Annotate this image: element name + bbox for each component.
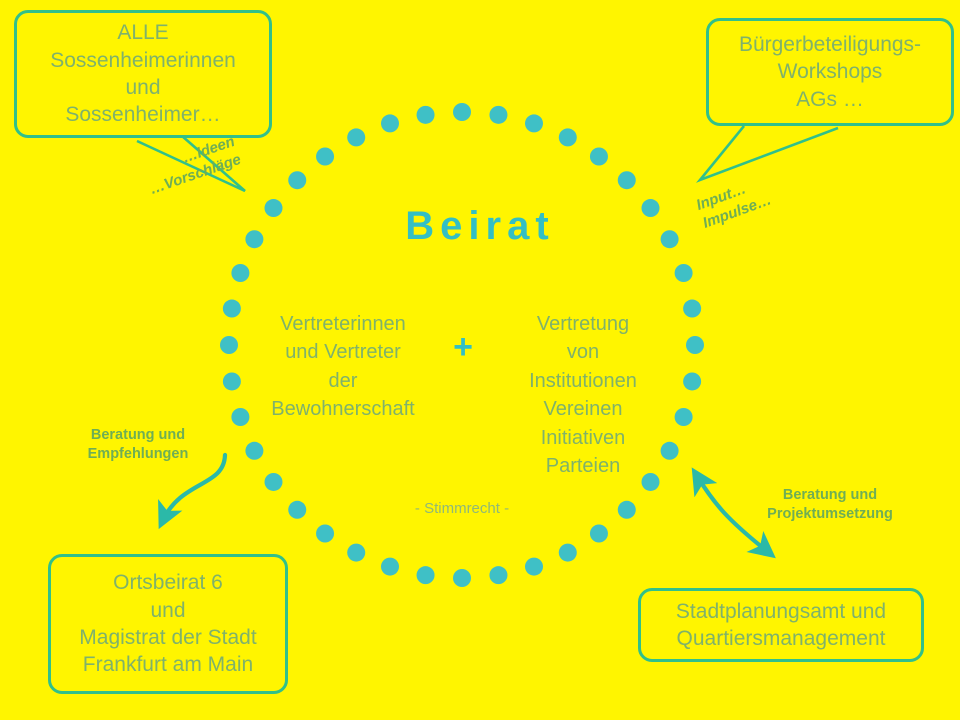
ring-dot (316, 525, 334, 543)
caption-beratung-empfehlungen: Beratung und Empfehlungen (62, 426, 214, 464)
ring-dot (559, 544, 577, 562)
ring-dot (686, 336, 704, 354)
ring-dot (347, 544, 365, 562)
ring-dot (618, 501, 636, 519)
ring-dot (316, 148, 334, 166)
ring-dot (265, 473, 283, 491)
ring-dot (231, 408, 249, 426)
bubble-workshops-text: Bürgerbeteiligungs- Workshops AGs … (739, 31, 921, 113)
ring-dot (683, 372, 701, 390)
ring-dot (417, 106, 435, 124)
ring-dot (231, 264, 249, 282)
ring-dot (489, 566, 507, 584)
ring-dot (381, 114, 399, 132)
ring-dot (525, 114, 543, 132)
box-stadtplanung: Stadtplanungsamt und Quartiersmanagement (638, 588, 924, 662)
center-right-column: Vertretung von Institutionen Vereinen In… (488, 310, 678, 480)
page-title: Beirat (0, 204, 960, 249)
arrow-left-curve (163, 455, 225, 520)
annotation-ideen-vorschlaege: …Ideen …Vorschläge (118, 133, 244, 208)
box-ortsbeirat: Ortsbeirat 6 und Magistrat der Stadt Fra… (48, 554, 288, 694)
box-ortsbeirat-text: Ortsbeirat 6 und Magistrat der Stadt Fra… (79, 569, 256, 678)
center-footnote: - Stimmrecht - (352, 500, 572, 517)
diagram-canvas: ALLE Sossenheimerinnen und Sossenheimer…… (0, 0, 960, 720)
caption-beratung-projektumsetzung: Beratung und Projektumsetzung (740, 486, 920, 524)
ring-dot (223, 300, 241, 318)
ring-dot (453, 569, 471, 587)
bubble-citizens: ALLE Sossenheimerinnen und Sossenheimer… (14, 10, 272, 138)
ring-dot (288, 171, 306, 189)
ring-dot (453, 103, 471, 121)
bubble-workshops: Bürgerbeteiligungs- Workshops AGs … (706, 18, 954, 126)
ring-dot (683, 300, 701, 318)
center-left-column: Vertreterinnen und Vertreter der Bewohne… (248, 310, 438, 424)
ring-dot (618, 171, 636, 189)
ring-dot (220, 336, 238, 354)
ring-dot (288, 501, 306, 519)
ring-dot (347, 128, 365, 146)
ring-dot (675, 264, 693, 282)
box-stadtplanung-text: Stadtplanungsamt und Quartiersmanagement (676, 598, 886, 653)
bubble-citizens-text: ALLE Sossenheimerinnen und Sossenheimer… (50, 19, 236, 128)
ring-dot (590, 525, 608, 543)
ring-dot (590, 148, 608, 166)
ring-dot (223, 372, 241, 390)
ring-dot (381, 558, 399, 576)
plus-icon: + (440, 330, 486, 364)
ring-dot (417, 566, 435, 584)
ring-dot (559, 128, 577, 146)
ring-dot (489, 106, 507, 124)
ring-dot (525, 558, 543, 576)
ring-dot (245, 442, 263, 460)
